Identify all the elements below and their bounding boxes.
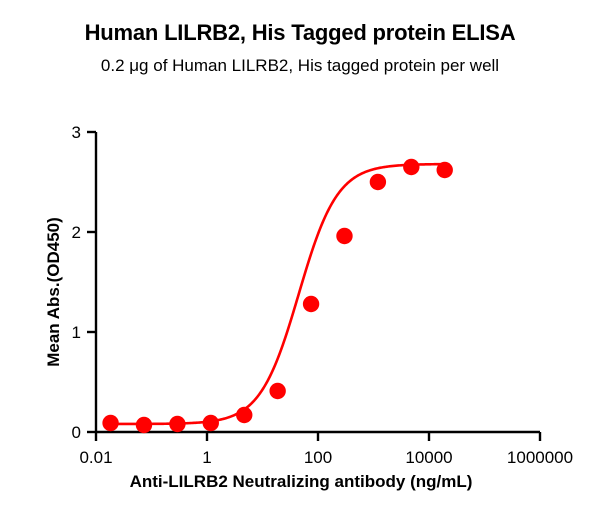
y-tick-label: 2 [72, 223, 81, 242]
y-tick-label: 0 [72, 423, 81, 442]
data-point [236, 407, 252, 423]
x-tick-label: 100 [304, 448, 332, 467]
x-tick-label: 1000000 [507, 448, 573, 467]
data-point [136, 417, 152, 433]
data-point [102, 415, 118, 431]
x-tick-label: 10000 [405, 448, 452, 467]
y-tick-label: 3 [72, 123, 81, 142]
data-point [203, 415, 219, 431]
data-point [303, 296, 319, 312]
data-point [403, 159, 419, 175]
data-point [169, 416, 185, 432]
data-point-markers [102, 159, 453, 433]
x-tick-label: 1 [202, 448, 211, 467]
plot-area: 0.011100100001000000 0123 [0, 0, 600, 516]
data-point [336, 228, 352, 244]
data-point [370, 174, 386, 190]
y-tick-label: 1 [72, 323, 81, 342]
data-point [437, 162, 453, 178]
axis-lines [96, 132, 540, 432]
y-axis-ticks: 0123 [72, 123, 96, 442]
elisa-chart-figure: Human LILRB2, His Tagged protein ELISA 0… [0, 0, 600, 516]
x-axis-ticks: 0.011100100001000000 [79, 432, 573, 467]
x-tick-label: 0.01 [79, 448, 112, 467]
data-point [269, 383, 285, 399]
